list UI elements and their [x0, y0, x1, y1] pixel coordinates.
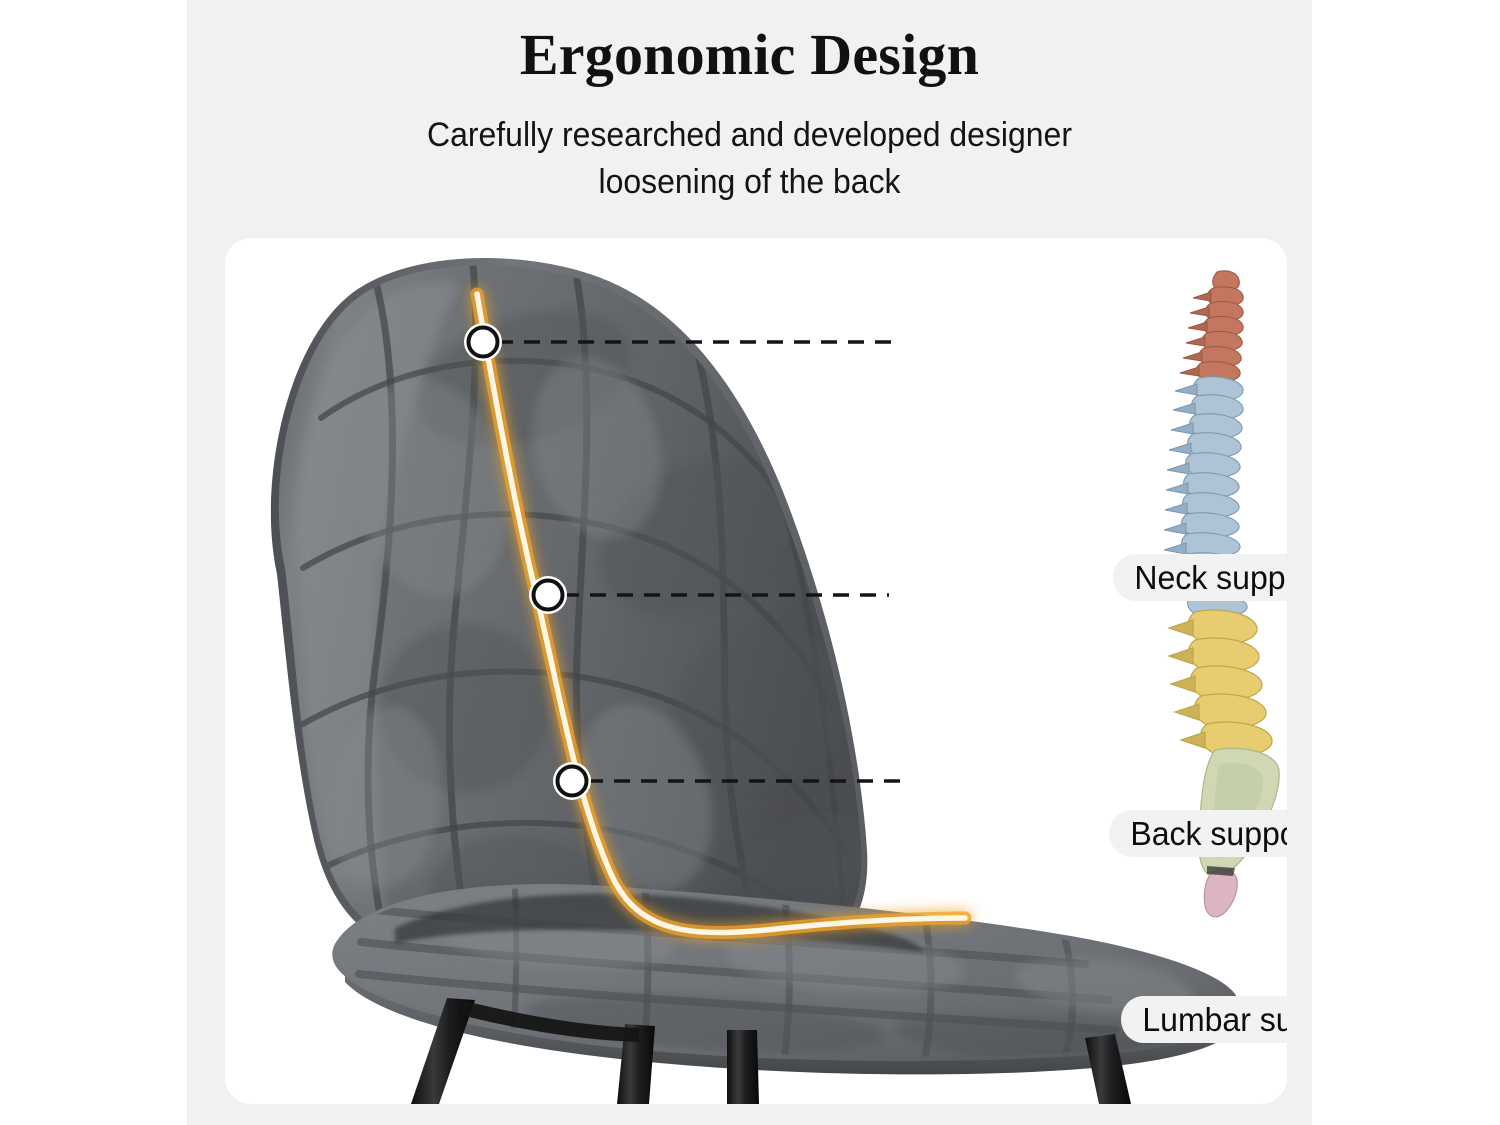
lumbar-support-marker: [553, 762, 591, 800]
product-image-card: Neck support Back support Lumbar support: [225, 238, 1287, 1104]
spine-segment-coccyx: [1204, 866, 1237, 917]
product-infographic: Ergonomic Design Carefully researched an…: [0, 0, 1500, 1125]
callout-label-neck-support: Neck support: [1113, 554, 1287, 601]
back-support-marker: [529, 576, 567, 614]
page-title: Ergonomic Design: [187, 24, 1312, 87]
subtitle-line-2: loosening of the back: [221, 159, 1279, 206]
chair-graphic: [225, 238, 1265, 1104]
spine-segment-lumbar: [1169, 610, 1272, 757]
spine-segment-cervical: [1180, 271, 1243, 383]
card-inner: Neck support Back support Lumbar support: [225, 238, 1287, 1104]
page-subtitle: Carefully researched and developed desig…: [221, 112, 1279, 206]
subtitle-line-1: Carefully researched and developed desig…: [221, 112, 1279, 159]
chair-and-spine-illustration: [225, 238, 1287, 1104]
neck-support-marker: [464, 323, 502, 361]
callout-label-lumbar-support: Lumbar support: [1121, 996, 1287, 1043]
callout-label-back-support: Back support: [1109, 810, 1287, 857]
leg-rear-right: [727, 1030, 759, 1104]
